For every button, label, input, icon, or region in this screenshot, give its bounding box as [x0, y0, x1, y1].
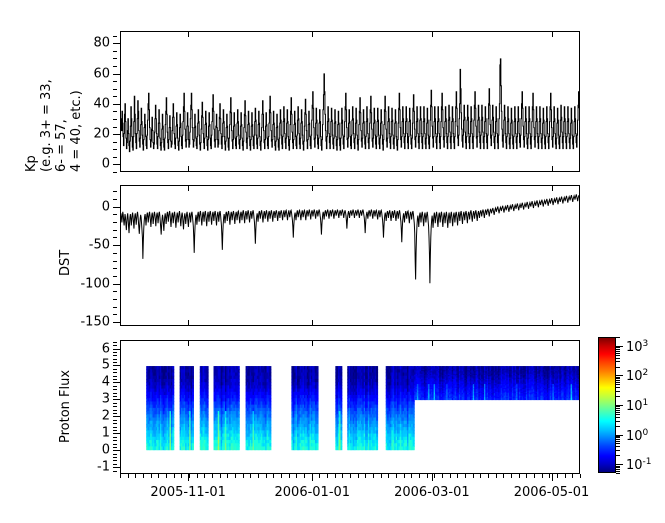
- colorbar-tick-minor: [616, 410, 620, 411]
- colorbar-label-mantissa: 10: [626, 340, 643, 355]
- y-tick-label: 1: [102, 427, 110, 440]
- colorbar-tick-minor: [616, 466, 620, 467]
- y-tick-label: 60: [93, 67, 110, 80]
- colorbar-tick-major: [616, 346, 623, 347]
- x-tick-minor: [243, 474, 244, 478]
- y-tick-major: [113, 104, 120, 105]
- x-tick-major: [432, 474, 433, 481]
- y-tick-minor: [113, 460, 117, 461]
- y-tick-minor: [113, 471, 117, 472]
- x-tick-band-kp: [120, 31, 580, 39]
- y-tick-major: [113, 450, 120, 451]
- x-tick-major: [188, 474, 189, 481]
- colorbar-tick-label: 102: [626, 367, 648, 383]
- y-tick-minor: [113, 51, 117, 52]
- y-tick-major: [113, 164, 120, 165]
- colorbar-label-mantissa: 10: [626, 399, 643, 414]
- y-tick-minor: [113, 142, 117, 143]
- x-tick-minor: [120, 474, 121, 478]
- colorbar-tick-minor: [616, 439, 620, 440]
- colorbar-tick-label: 101: [626, 397, 648, 413]
- y-tick-label: 3: [102, 393, 110, 406]
- colorbar-tick-minor: [616, 378, 620, 379]
- colorbar-tick-minor: [616, 467, 620, 468]
- colorbar-axis: 10-1100101102103: [616, 337, 664, 473]
- colorbar-tick-label: 10-1: [626, 456, 652, 472]
- x-tick-minor: [381, 474, 382, 478]
- x-tick-label: 2006-05-01: [514, 486, 590, 500]
- y-tick-major: [113, 382, 120, 383]
- x-tick-minor: [166, 474, 167, 478]
- x-axis: 2005-11-012006-01-012006-03-012006-05-01: [120, 474, 580, 514]
- y-tick-label: -50: [89, 239, 110, 252]
- y-tick-minor: [113, 127, 117, 128]
- colorbar-tick-minor: [616, 412, 620, 413]
- y-tick-minor: [113, 362, 117, 363]
- colorbar-label-mantissa: 10: [626, 370, 643, 385]
- y-tick-minor: [113, 420, 117, 421]
- kp-data-line: [121, 32, 579, 171]
- y-tick-major: [113, 467, 120, 468]
- x-tick-major-top: [432, 185, 433, 191]
- colorbar-label-mantissa: 10: [626, 458, 643, 473]
- colorbar-tick-minor: [616, 353, 620, 354]
- y-tick-label: 20: [93, 128, 110, 141]
- y-tick-minor: [113, 352, 117, 353]
- x-tick-minor: [350, 474, 351, 478]
- x-tick-major-bottom: [312, 166, 313, 172]
- y-tick-minor: [113, 379, 117, 380]
- x-tick-minor: [151, 474, 152, 478]
- y-tick-minor: [113, 111, 117, 112]
- x-tick-minor: [189, 474, 190, 478]
- y-tick-minor: [113, 58, 117, 59]
- x-tick-minor: [181, 474, 182, 478]
- y-tick-major: [113, 43, 120, 44]
- colorbar-tick-minor: [616, 391, 620, 392]
- dst-axis-title-text: DST: [58, 250, 73, 276]
- y-tick-minor: [113, 345, 117, 346]
- x-tick-minor: [404, 474, 405, 478]
- y-tick-minor: [113, 253, 117, 254]
- y-tick-minor: [113, 457, 117, 458]
- y-tick-minor: [113, 372, 117, 373]
- colorbar-tick-minor: [616, 377, 620, 378]
- x-tick-minor: [358, 474, 359, 478]
- colorbar-tick-minor: [616, 441, 620, 442]
- colorbar-tick-minor: [616, 396, 620, 397]
- colorbar-tick-minor: [616, 414, 620, 415]
- x-tick-minor: [273, 474, 274, 478]
- kp-y-axis: 020406080: [86, 31, 120, 172]
- colorbar-tick-minor: [616, 349, 620, 350]
- y-tick-major: [113, 399, 120, 400]
- y-tick-major: [113, 207, 120, 208]
- colorbar-tick-minor: [616, 351, 620, 352]
- colorbar-label-mantissa: 10: [626, 429, 643, 444]
- y-tick-label: -150: [80, 316, 110, 329]
- kp-svg-path: [121, 59, 579, 152]
- x-tick-label: 2005-11-01: [150, 486, 226, 500]
- x-tick-minor: [289, 474, 290, 478]
- x-tick-minor: [465, 474, 466, 478]
- x-tick-minor: [580, 474, 581, 478]
- x-tick-minor: [526, 474, 527, 478]
- x-tick-label: 2006-01-01: [275, 486, 351, 500]
- colorbar-tick-minor: [616, 406, 620, 407]
- y-tick-minor: [113, 369, 117, 370]
- x-tick-minor: [304, 474, 305, 478]
- kp-plot-panel: [120, 31, 580, 172]
- dst-plot-panel: [120, 185, 580, 326]
- x-tick-minor: [220, 474, 221, 478]
- x-tick-minor: [557, 474, 558, 478]
- y-tick-minor: [113, 307, 117, 308]
- colorbar-tick-minor: [616, 450, 620, 451]
- x-tick-major-top: [188, 185, 189, 191]
- y-tick-minor: [113, 413, 117, 414]
- y-tick-major: [113, 74, 120, 75]
- colorbar-tick-major: [616, 435, 623, 436]
- x-tick-major-bottom: [312, 320, 313, 326]
- x-tick-minor: [327, 474, 328, 478]
- spectrogram-band: [246, 366, 272, 450]
- y-tick-minor: [113, 359, 117, 360]
- x-tick-label: 2006-03-01: [394, 486, 470, 500]
- y-tick-major: [113, 134, 120, 135]
- x-tick-major-top: [552, 340, 553, 346]
- colorbar-label-exponent: 3: [643, 339, 649, 349]
- y-tick-minor: [113, 199, 117, 200]
- y-tick-minor: [113, 376, 117, 377]
- y-tick-minor: [113, 355, 117, 356]
- x-tick-minor: [496, 474, 497, 478]
- y-tick-minor: [113, 81, 117, 82]
- colorbar: [598, 337, 616, 473]
- colorbar-tick-minor: [616, 380, 620, 381]
- proton-flux-axis-title-text: Proton Flux: [58, 370, 73, 443]
- kp-axis-title: Kp (e.g. 3+ = 33, 6- = 57, 4 = 40, etc.): [24, 79, 84, 172]
- y-tick-minor: [113, 454, 117, 455]
- y-tick-minor: [113, 403, 117, 404]
- x-tick-major-top: [432, 340, 433, 346]
- colorbar-tick-minor: [616, 347, 620, 348]
- y-tick-minor: [113, 314, 117, 315]
- y-tick-label: 40: [93, 97, 110, 110]
- x-tick-major-top: [312, 340, 313, 346]
- colorbar-tick-label: 103: [626, 338, 648, 354]
- y-tick-label: 0: [102, 200, 110, 213]
- x-tick-minor: [542, 474, 543, 478]
- y-tick-minor: [113, 261, 117, 262]
- y-tick-minor: [113, 440, 117, 441]
- colorbar-tick-minor: [616, 408, 620, 409]
- x-tick-minor: [519, 474, 520, 478]
- x-tick-band-bottom-dst: [120, 320, 580, 326]
- spectrogram-band: [291, 366, 318, 450]
- colorbar-tick-minor: [616, 337, 620, 338]
- x-tick-minor: [335, 474, 336, 478]
- y-tick-minor: [113, 447, 117, 448]
- dst-svg-path: [121, 194, 579, 283]
- x-tick-major-top: [432, 31, 433, 37]
- y-tick-major: [113, 284, 120, 285]
- colorbar-label-exponent: -1: [643, 457, 652, 467]
- x-tick-minor: [235, 474, 236, 478]
- y-tick-minor: [113, 191, 117, 192]
- x-tick-major: [312, 474, 313, 481]
- x-tick-minor: [457, 474, 458, 478]
- figure-canvas: 020406080 Kp (e.g. 3+ = 33, 6- = 57, 4 =…: [0, 0, 665, 523]
- x-tick-minor: [488, 474, 489, 478]
- y-tick-minor: [113, 149, 117, 150]
- y-tick-minor: [113, 299, 117, 300]
- x-tick-minor: [250, 474, 251, 478]
- x-tick-minor: [135, 474, 136, 478]
- x-tick-minor: [572, 474, 573, 478]
- spectrogram-band: [200, 366, 209, 450]
- x-tick-major-bottom: [188, 320, 189, 326]
- x-tick-major-bottom: [188, 166, 189, 172]
- proton-flux-axis-title: Proton Flux: [58, 370, 73, 443]
- x-tick-minor: [534, 474, 535, 478]
- x-tick-major-top: [188, 340, 189, 346]
- x-tick-minor: [365, 474, 366, 478]
- colorbar-tick-minor: [616, 426, 620, 427]
- y-tick-minor: [113, 36, 117, 37]
- y-tick-minor: [113, 268, 117, 269]
- y-tick-major: [113, 365, 120, 366]
- colorbar-tick-minor: [616, 446, 620, 447]
- colorbar-tick-major: [616, 464, 623, 465]
- x-tick-band-bottom-kp: [120, 166, 580, 172]
- x-tick-minor: [158, 474, 159, 478]
- x-tick-major-bottom: [432, 320, 433, 326]
- colorbar-tick-minor: [616, 437, 620, 438]
- y-tick-minor: [113, 406, 117, 407]
- x-tick-minor: [266, 474, 267, 478]
- y-tick-label: 0: [102, 158, 110, 171]
- y-tick-minor: [113, 96, 117, 97]
- y-tick-minor: [113, 214, 117, 215]
- y-tick-major: [113, 322, 120, 323]
- x-tick-major-bottom: [552, 320, 553, 326]
- y-tick-major: [113, 245, 120, 246]
- colorbar-label-exponent: 1: [643, 398, 649, 408]
- x-tick-minor: [143, 474, 144, 478]
- x-tick-major-top: [312, 31, 313, 37]
- y-tick-minor: [113, 437, 117, 438]
- spectrogram-band: [214, 366, 240, 450]
- proton-flux-spectrogram: [121, 341, 579, 473]
- x-tick-minor: [212, 474, 213, 478]
- colorbar-tick-minor: [616, 384, 620, 385]
- kp-axis-title-line-2: 6- = 57,: [54, 79, 69, 172]
- x-tick-band-dst: [120, 185, 580, 193]
- x-tick-major-top: [552, 31, 553, 37]
- x-tick-minor: [549, 474, 550, 478]
- x-tick-minor: [396, 474, 397, 478]
- colorbar-tick-label: 100: [626, 426, 648, 442]
- spectrogram-band: [347, 366, 378, 450]
- colorbar-tick-major: [616, 405, 623, 406]
- colorbar-tick-minor: [616, 387, 620, 388]
- x-tick-minor: [373, 474, 374, 478]
- proton-flux-y-axis: -10123456: [86, 340, 120, 474]
- x-tick-minor: [511, 474, 512, 478]
- y-tick-label: -1: [97, 461, 110, 474]
- y-tick-minor: [113, 444, 117, 445]
- x-tick-minor: [281, 474, 282, 478]
- y-tick-minor: [113, 157, 117, 158]
- y-tick-label: 2: [102, 410, 110, 423]
- y-tick-minor: [113, 386, 117, 387]
- y-tick-minor: [113, 423, 117, 424]
- spectrogram-band: [180, 366, 194, 450]
- y-tick-minor: [113, 237, 117, 238]
- spectrogram-band: [146, 366, 174, 450]
- x-tick-minor: [128, 474, 129, 478]
- y-tick-minor: [113, 291, 117, 292]
- x-tick-minor: [442, 474, 443, 478]
- x-tick-minor: [473, 474, 474, 478]
- x-tick-minor: [419, 474, 420, 478]
- y-tick-minor: [113, 410, 117, 411]
- y-tick-minor: [113, 119, 117, 120]
- x-tick-minor: [565, 474, 566, 478]
- colorbar-label-exponent: 0: [643, 427, 649, 437]
- y-tick-label: 6: [102, 342, 110, 355]
- dst-data-line: [121, 186, 579, 325]
- y-tick-major: [113, 433, 120, 434]
- y-tick-minor: [113, 276, 117, 277]
- colorbar-tick-minor: [616, 382, 620, 383]
- colorbar-tick-minor: [616, 355, 620, 356]
- x-tick-minor: [258, 474, 259, 478]
- kp-axis-title-line-1: (e.g. 3+ = 33,: [39, 79, 54, 172]
- kp-axis-title-line-0: Kp: [24, 79, 39, 172]
- x-tick-minor: [434, 474, 435, 478]
- x-tick-major-top: [312, 185, 313, 191]
- colorbar-tick-minor: [616, 473, 620, 474]
- y-tick-label: 80: [93, 37, 110, 50]
- x-tick-minor: [174, 474, 175, 478]
- colorbar-tick-minor: [616, 471, 620, 472]
- x-tick-minor: [296, 474, 297, 478]
- y-tick-major: [113, 349, 120, 350]
- y-tick-minor: [113, 389, 117, 390]
- x-tick-band-flux: [120, 340, 580, 348]
- x-tick-major: [552, 474, 553, 481]
- dst-y-axis: 0-50-100-150: [86, 185, 120, 326]
- y-tick-minor: [113, 427, 117, 428]
- colorbar-tick-minor: [616, 455, 620, 456]
- y-tick-minor: [113, 396, 117, 397]
- spectrogram-band: [386, 366, 415, 450]
- x-tick-minor: [342, 474, 343, 478]
- colorbar-tick-minor: [616, 469, 620, 470]
- proton-flux-plot-panel: [120, 340, 580, 474]
- colorbar-tick-minor: [616, 436, 620, 437]
- x-tick-minor: [503, 474, 504, 478]
- x-tick-minor: [204, 474, 205, 478]
- spectrogram-band: [414, 366, 579, 400]
- y-tick-minor: [113, 66, 117, 67]
- y-tick-minor: [113, 222, 117, 223]
- colorbar-label-exponent: 2: [643, 368, 649, 378]
- spectrogram-band: [335, 366, 342, 450]
- x-tick-minor: [450, 474, 451, 478]
- x-tick-minor: [480, 474, 481, 478]
- y-tick-label: 4: [102, 376, 110, 389]
- colorbar-tick-minor: [616, 443, 620, 444]
- y-tick-label: -100: [80, 277, 110, 290]
- x-tick-major-top: [552, 185, 553, 191]
- y-tick-minor: [113, 393, 117, 394]
- y-tick-minor: [113, 89, 117, 90]
- colorbar-tick-minor: [616, 361, 620, 362]
- y-tick-minor: [113, 430, 117, 431]
- dst-axis-title: DST: [58, 250, 73, 276]
- x-tick-minor: [388, 474, 389, 478]
- x-tick-major-top: [188, 31, 189, 37]
- x-tick-minor: [319, 474, 320, 478]
- y-tick-minor: [113, 230, 117, 231]
- x-tick-minor: [411, 474, 412, 478]
- x-tick-major-bottom: [552, 166, 553, 172]
- x-tick-major-bottom: [432, 166, 433, 172]
- colorbar-tick-minor: [616, 367, 620, 368]
- x-tick-minor: [197, 474, 198, 478]
- kp-axis-title-line-3: 4 = 40, etc.): [69, 79, 84, 172]
- colorbar-tick-minor: [616, 417, 620, 418]
- x-tick-minor: [227, 474, 228, 478]
- y-tick-minor: [113, 172, 117, 173]
- colorbar-tick-minor: [616, 358, 620, 359]
- colorbar-tick-minor: [616, 421, 620, 422]
- y-tick-label: 5: [102, 359, 110, 372]
- y-tick-label: 0: [102, 444, 110, 457]
- y-tick-minor: [113, 464, 117, 465]
- x-tick-minor: [427, 474, 428, 478]
- y-tick-major: [113, 416, 120, 417]
- y-tick-minor: [113, 342, 117, 343]
- colorbar-tick-major: [616, 375, 623, 376]
